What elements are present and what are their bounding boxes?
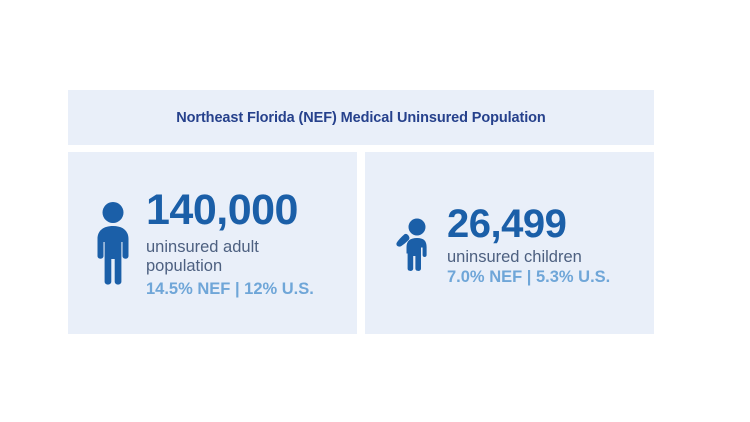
stat-comparison-children: 7.0% NEF | 5.3% U.S. xyxy=(447,268,610,288)
stat-text-adults: 140,000 uninsured adult population 14.5%… xyxy=(146,189,321,300)
stat-panel-children-inner: 26,499 uninsured children 7.0% NEF | 5.3… xyxy=(365,204,610,288)
stat-panels-row: 140,000 uninsured adult population 14.5%… xyxy=(68,152,654,334)
adult-person-icon xyxy=(92,201,134,287)
stat-comparison-adults: 14.5% NEF | 12% U.S. xyxy=(146,280,321,300)
child-person-icon xyxy=(393,218,433,272)
stat-description-adults: uninsured adult population xyxy=(146,238,321,276)
stat-text-children: 26,499 uninsured children 7.0% NEF | 5.3… xyxy=(447,204,610,288)
infographic-container: Northeast Florida (NEF) Medical Uninsure… xyxy=(68,90,654,334)
stat-panel-adults-inner: 140,000 uninsured adult population 14.5%… xyxy=(68,189,321,300)
header-band: Northeast Florida (NEF) Medical Uninsure… xyxy=(68,90,654,145)
stat-number-children: 26,499 xyxy=(447,204,610,245)
stat-panel-adults: 140,000 uninsured adult population 14.5%… xyxy=(68,152,357,334)
stat-description-children: uninsured children xyxy=(447,248,610,267)
page-title: Northeast Florida (NEF) Medical Uninsure… xyxy=(176,110,545,126)
stat-number-adults: 140,000 xyxy=(146,189,321,233)
stat-panel-children: 26,499 uninsured children 7.0% NEF | 5.3… xyxy=(365,152,654,334)
